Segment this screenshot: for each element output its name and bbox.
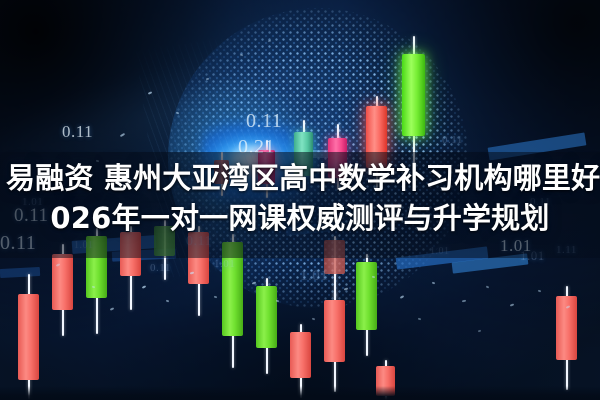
particle-speck	[240, 54, 243, 57]
candle-body	[52, 254, 73, 310]
background-number: 1.01	[300, 268, 328, 285]
page-title: 易融资 惠州大亚湾区高中数学补习机构哪里好？2 026年一对一网课权威测评与升学…	[0, 158, 600, 238]
promo-banner: 0.111.010.110.111.011.110.110.210.111.01…	[0, 0, 600, 400]
headline-line-2: 026年一对一网课权威测评与升学规划	[6, 198, 594, 238]
background-number: 0.11	[150, 262, 171, 274]
particle-speck	[214, 296, 217, 298]
candle-body	[402, 54, 425, 136]
background-number: 0.11	[246, 110, 282, 133]
bottom-vignette	[0, 386, 600, 400]
background-number: 1.01	[214, 258, 235, 270]
particle-speck	[372, 276, 375, 279]
candle-body	[18, 294, 39, 380]
background-number: 0.11	[62, 122, 93, 142]
headline-line-1: 易融资 惠州大亚湾区高中数学补习机构哪里好？2	[6, 158, 594, 198]
background-number: 0.11	[442, 134, 463, 146]
particle-speck	[418, 318, 421, 321]
